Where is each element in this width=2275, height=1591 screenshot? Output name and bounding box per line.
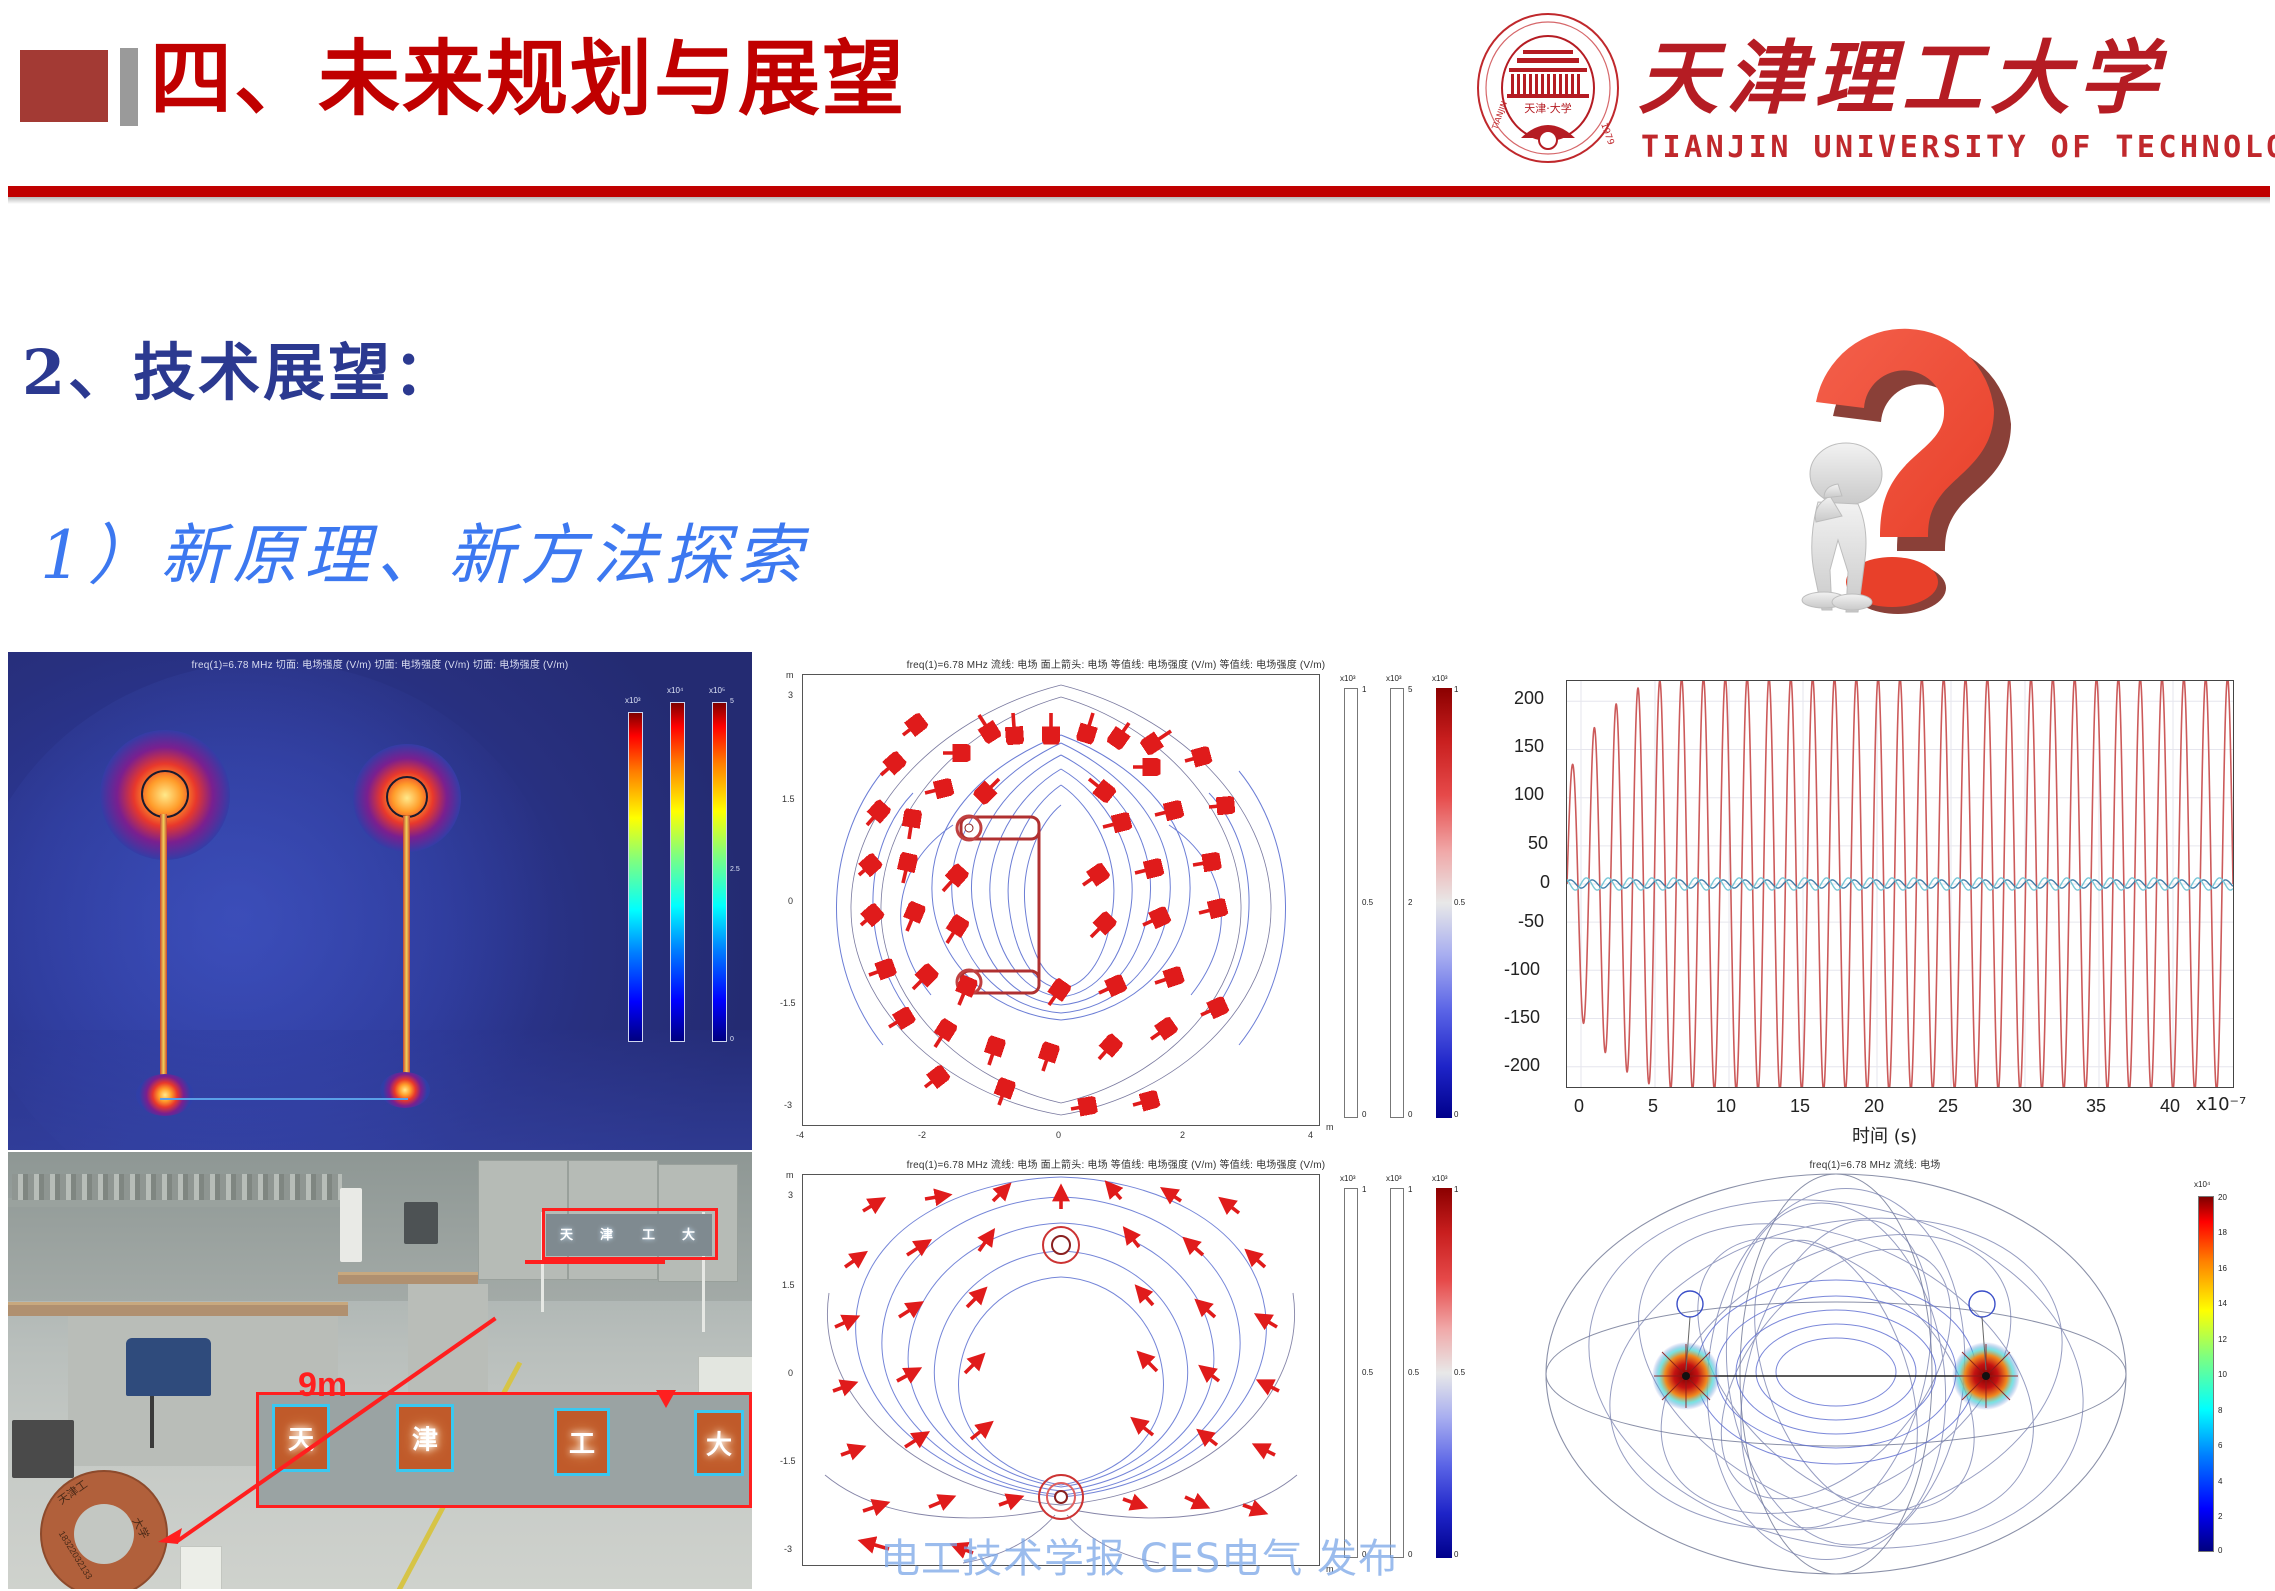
stream-a-ytick-max: 3 — [788, 690, 793, 700]
lab-bench-left — [8, 1302, 348, 1316]
stream-b-field-svg — [803, 1175, 1319, 1565]
waveform-ytick-50: 50 — [1528, 833, 1548, 854]
stream-b-cb1-tick-min: 0 — [1362, 1550, 1366, 1559]
slide-header: 四、未来规划与展望 — [0, 0, 2275, 245]
stream-a-cb2-tick-mid: 2 — [1408, 898, 1412, 907]
stream-b-cb3-tick-mid: 0.5 — [1454, 1368, 1465, 1377]
field3d-cb-tick-10: 10 — [2218, 1370, 2227, 1379]
waveform-ytick-150: 150 — [1514, 736, 1544, 757]
stream-b-ytick-min: -3 — [784, 1544, 792, 1554]
led-glyph-4: 大 — [697, 1425, 741, 1462]
comsol3d-colorbar-3-exp: x10⁵ — [709, 686, 725, 695]
waveform-plot-frame — [1566, 680, 2234, 1088]
waveform-x-axis-title: 时间 (s) — [1852, 1122, 1917, 1148]
comsol3d-colorbar-3 — [712, 702, 727, 1042]
field3d-cb-tick-2: 2 — [2218, 1512, 2222, 1521]
comsol3d-colorbar-2 — [670, 702, 685, 1042]
waveform-xtick-40: 40 — [2160, 1096, 2180, 1117]
lab-chair-1-legs — [150, 1396, 154, 1448]
stream-b-colorbar-1-exp: x10³ — [1340, 1174, 1356, 1183]
stream-b-plot-frame — [802, 1174, 1320, 1566]
slide-root: 四、未来规划与展望 — [0, 0, 2275, 1591]
lab-bench-mid — [338, 1272, 478, 1284]
waveform-ytick-n200: -200 — [1504, 1055, 1540, 1076]
lab-callout-box-far — [542, 1208, 718, 1260]
stream-a-x-axis-label: m — [1326, 1122, 1334, 1132]
stream-a-colorbar-2 — [1390, 688, 1404, 1118]
svg-text:1979: 1979 — [1598, 122, 1615, 147]
stream-b-ytick-1: 1.5 — [782, 1280, 795, 1290]
subheading-new-principles: 1）新原理、新方法探索 — [40, 502, 808, 598]
stream-b-ytick-2: -1.5 — [780, 1456, 796, 1466]
stream-b-ytick-0: 0 — [788, 1368, 793, 1378]
field3d-colorbar — [2198, 1196, 2214, 1552]
stream-b-ytick-max: 3 — [788, 1190, 793, 1200]
field3d-cb-tick-8: 8 — [2218, 1406, 2222, 1415]
stream-a-plot-frame — [802, 674, 1320, 1126]
header-bar-decoration — [120, 48, 138, 126]
comsol3d-cb3-tick-max: 5 — [730, 698, 734, 705]
svg-text:TIANJIN: TIANJIN — [1490, 100, 1509, 132]
comsol3d-colorbar-2-exp: x10⁴ — [667, 686, 683, 695]
antenna-left-ring — [141, 770, 189, 818]
header-square-decoration — [20, 50, 108, 122]
waveform-xtick-35: 35 — [2086, 1096, 2106, 1117]
lab-transmitter-coil-hole — [74, 1504, 134, 1564]
stream-b-cb2-tick-max: 1 — [1408, 1185, 1412, 1194]
stream-a-cb3-tick-mid: 0.5 — [1454, 898, 1465, 907]
stream-a-ytick-min: -3 — [784, 1100, 792, 1110]
led-panel-4: 大 — [694, 1410, 744, 1476]
stream-b-colorbar-2 — [1390, 1188, 1404, 1558]
lab-equipment-2 — [340, 1188, 362, 1262]
stream-a-cb3-tick-max: 1 — [1454, 685, 1458, 694]
waveform-ytick-200: 200 — [1514, 688, 1544, 709]
field3d-cb-tick-4: 4 — [2218, 1477, 2222, 1486]
stream-a-xtick-1: -2 — [918, 1130, 926, 1140]
waveform-x-exponent: x10⁻⁷ — [2196, 1094, 2246, 1115]
stream-a-colorbar-1 — [1344, 688, 1358, 1118]
stream-a-xtick-2: 2 — [1180, 1130, 1185, 1140]
waveform-ytick-0: 0 — [1540, 872, 1550, 893]
lab-shelf-items — [12, 1174, 342, 1200]
figure-lab-experiment-photo: 天 津 工 大 天津工 大学 18322032133 天 津 工 大 — [8, 1152, 752, 1589]
stream-b-y-axis-label: m — [786, 1170, 794, 1180]
figure-voltage-waveform-chart: 200 150 100 50 0 -50 -100 -150 -200 0 5 … — [1480, 652, 2270, 1150]
stream-a-ytick-2: -1.5 — [780, 998, 796, 1008]
waveform-xtick-15: 15 — [1790, 1096, 1810, 1117]
waveform-xtick-5: 5 — [1648, 1096, 1658, 1117]
lab-distance-label: 9m — [298, 1366, 347, 1405]
field3d-cb-tick-0: 0 — [2218, 1546, 2222, 1555]
waveform-ytick-100: 100 — [1514, 784, 1544, 805]
stream-a-colorbar-3-exp: x10³ — [1432, 674, 1448, 683]
comsol3d-colorbar-1-exp: x10³ — [625, 696, 641, 705]
antenna-right-base-glow — [380, 1072, 430, 1108]
lab-bench-mid-body — [408, 1284, 488, 1394]
university-seal-icon: 天津·大学 TIANJIN 1979 — [1473, 12, 1623, 164]
comsol3d-colorbar-1 — [628, 712, 643, 1042]
stream-a-field-svg — [803, 675, 1319, 1125]
figure-title-stream-a: freq(1)=6.78 MHz 流线: 电场 面上箭头: 电场 等值线: 电场… — [760, 656, 1472, 671]
field3d-cb-tick-12: 12 — [2218, 1335, 2227, 1344]
field3d-cb-tick-20: 20 — [2218, 1193, 2227, 1202]
stream-b-colorbar-1 — [1344, 1188, 1358, 1558]
university-logo: 天津·大学 TIANJIN 1979 天津理工大学 TIANJIN UNIVER… — [1463, 8, 2263, 178]
antenna-left-stem — [160, 814, 167, 1102]
lab-arrow-vertical — [525, 1260, 665, 1264]
page-title: 四、未来规划与展望 — [150, 30, 906, 130]
field3d-colorbar-exp: x10⁴ — [2194, 1180, 2210, 1189]
led-panel-3: 工 — [554, 1408, 610, 1476]
stream-a-cb1-tick-min: 0 — [1362, 1110, 1366, 1119]
field3d-svg — [1486, 1164, 2186, 1584]
lab-arrow-diagonal-head — [158, 1524, 188, 1554]
stream-b-cb3-tick-min: 0 — [1454, 1550, 1458, 1559]
svg-text:天津·大学: 天津·大学 — [1524, 101, 1572, 115]
stream-b-cb2-tick-min: 0 — [1408, 1550, 1412, 1559]
figure-3d-streamline-field: freq(1)=6.78 MHz 流线: 电场 — [1480, 1152, 2270, 1589]
figure-streamline-efield-a: freq(1)=6.78 MHz 流线: 电场 面上箭头: 电场 等值线: 电场… — [760, 652, 1472, 1150]
ground-line — [160, 1098, 408, 1100]
stream-a-xtick-min: -4 — [796, 1130, 804, 1140]
stream-a-xtick-0: 0 — [1056, 1130, 1061, 1140]
university-name-cn: 天津理工大学 — [1638, 14, 2166, 130]
header-rule-red — [8, 186, 2270, 197]
waveform-xtick-10: 10 — [1716, 1096, 1736, 1117]
question-mark-3d-icon — [1768, 288, 2058, 618]
waveform-xtick-0: 0 — [1574, 1096, 1584, 1117]
lab-equipment-1 — [12, 1420, 74, 1478]
comsol3d-cb3-tick-mid: 2.5 — [730, 866, 740, 873]
stream-b-colorbar-2-exp: x10³ — [1386, 1174, 1402, 1183]
university-name-en: TIANJIN UNIVERSITY OF TECHNOLOGY — [1641, 130, 2275, 165]
waveform-ytick-n150: -150 — [1504, 1007, 1540, 1028]
field3d-cb-tick-18: 18 — [2218, 1228, 2227, 1237]
stream-a-xtick-max: 4 — [1308, 1130, 1313, 1140]
lab-arrow-vertical-head — [654, 1390, 678, 1414]
stream-a-cb2-tick-max: 5 — [1408, 685, 1412, 694]
figure-title-comsol3d: freq(1)=6.78 MHz 切面: 电场强度 (V/m) 切面: 电场强度… — [8, 656, 752, 671]
led-glyph-2: 津 — [399, 1420, 451, 1457]
header-rule-grey — [8, 197, 2270, 204]
figure-comsol-3d-efield: freq(1)=6.78 MHz 切面: 电场强度 (V/m) 切面: 电场强度… — [8, 652, 752, 1150]
stream-a-ytick-0: 0 — [788, 896, 793, 906]
field3d-cb-tick-6: 6 — [2218, 1441, 2222, 1450]
waveform-xtick-20: 20 — [1864, 1096, 1884, 1117]
led-panel-2: 津 — [396, 1404, 454, 1472]
waveform-ytick-n50: -50 — [1518, 911, 1544, 932]
stream-a-colorbar-2-exp: x10³ — [1386, 674, 1402, 683]
lab-chair-1 — [126, 1338, 211, 1396]
antenna-right-stem — [403, 816, 410, 1096]
stream-b-cb1-tick-max: 1 — [1362, 1185, 1366, 1194]
stream-a-cb2-tick-min: 0 — [1408, 1110, 1412, 1119]
antenna-left-base-glow — [136, 1074, 194, 1116]
section-heading-tech-outlook: 2、技术展望： — [22, 322, 458, 412]
stream-b-cb3-tick-max: 1 — [1454, 1185, 1458, 1194]
stream-a-cb3-tick-min: 0 — [1454, 1110, 1458, 1119]
waveform-ytick-n100: -100 — [1504, 959, 1540, 980]
stream-a-cb1-tick-max: 1 — [1362, 685, 1366, 694]
lab-equipment-3 — [404, 1202, 438, 1244]
field3d-cb-tick-14: 14 — [2218, 1299, 2227, 1308]
waveform-xtick-25: 25 — [1938, 1096, 1958, 1117]
stream-b-colorbar-3-exp: x10³ — [1432, 1174, 1448, 1183]
field3d-cb-tick-16: 16 — [2218, 1264, 2227, 1273]
stream-a-colorbar-3 — [1436, 688, 1452, 1118]
stream-a-ytick-1: 1.5 — [782, 794, 795, 804]
stream-a-colorbar-1-exp: x10³ — [1340, 674, 1356, 683]
figure-title-stream-b: freq(1)=6.78 MHz 流线: 电场 面上箭头: 电场 等值线: 电场… — [760, 1156, 1472, 1171]
led-glyph-3: 工 — [557, 1424, 607, 1461]
stream-b-colorbar-3 — [1436, 1188, 1452, 1558]
stream-a-y-axis-label: m — [786, 670, 794, 680]
antenna-right-ring — [386, 776, 428, 818]
stream-a-cb1-tick-mid: 0.5 — [1362, 898, 1373, 907]
stream-b-cb1-tick-mid: 0.5 — [1362, 1368, 1373, 1377]
waveform-xtick-30: 30 — [2012, 1096, 2032, 1117]
waveform-svg — [1567, 681, 2233, 1087]
comsol3d-cb3-tick-min: 0 — [730, 1036, 734, 1043]
stream-b-cb2-tick-mid: 0.5 — [1408, 1368, 1419, 1377]
figure-streamline-efield-b: freq(1)=6.78 MHz 流线: 电场 面上箭头: 电场 等值线: 电场… — [760, 1152, 1472, 1589]
stream-b-x-axis-label: m — [1326, 1564, 1334, 1574]
